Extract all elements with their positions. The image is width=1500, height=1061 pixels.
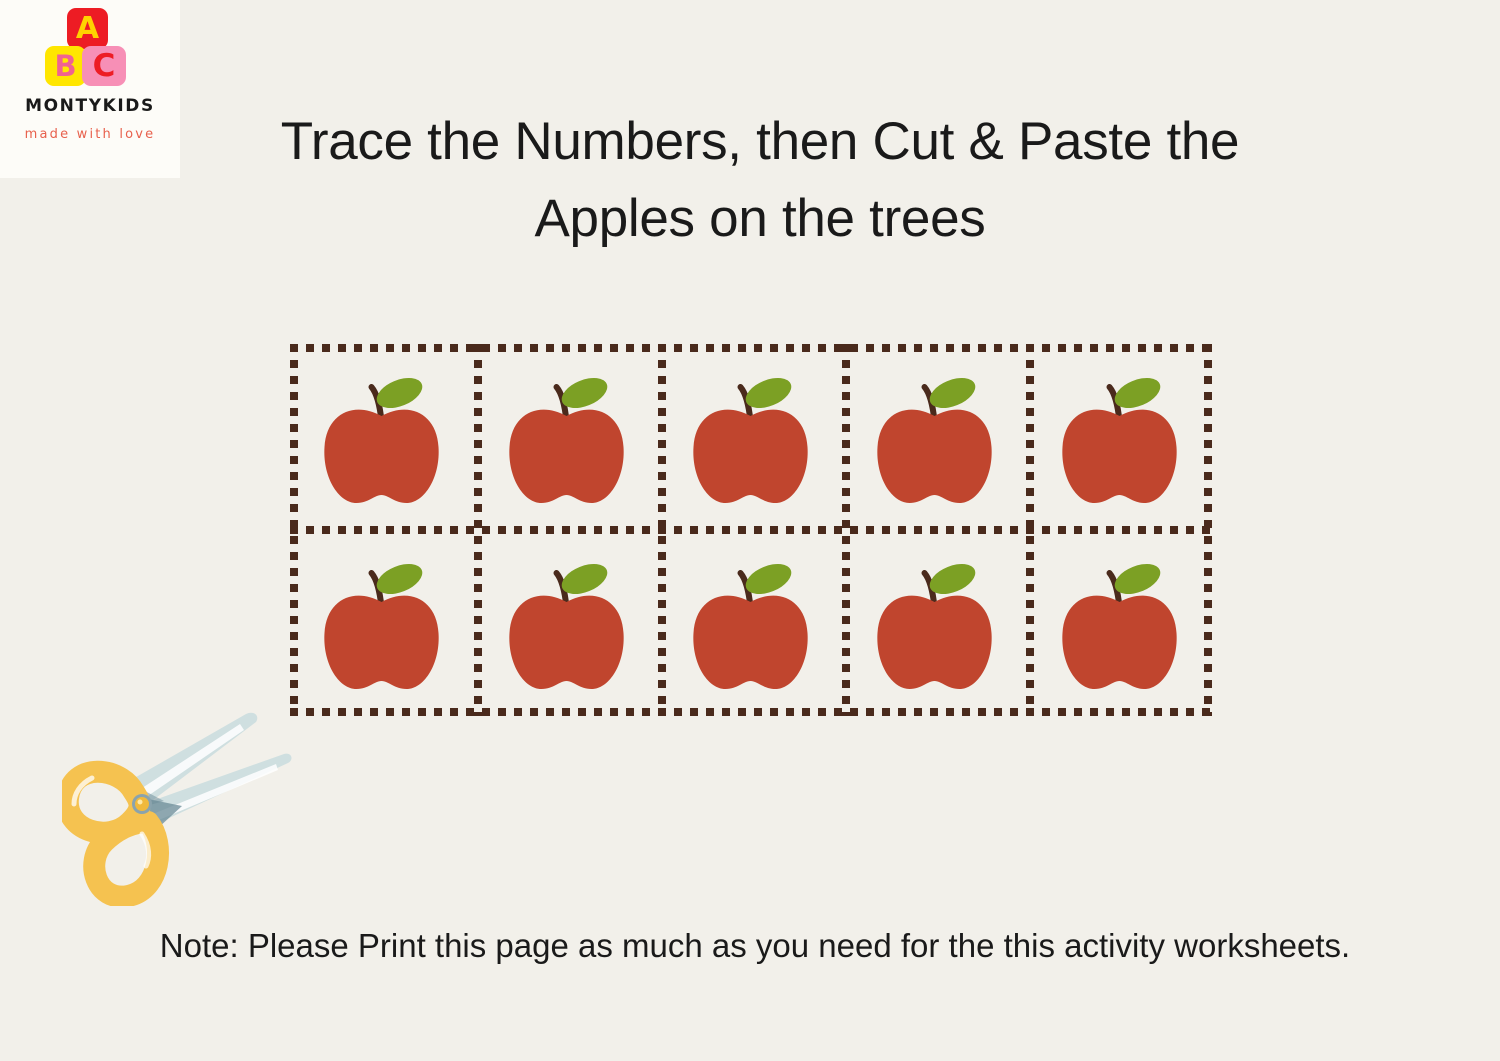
grid-dash-line-bottom bbox=[290, 708, 1212, 716]
apple-icon bbox=[499, 361, 634, 513]
apple-cut-cell[interactable] bbox=[474, 344, 658, 530]
apple-icon bbox=[683, 547, 818, 699]
apple-cut-cell[interactable] bbox=[1028, 344, 1212, 530]
apple-cutout-grid bbox=[290, 344, 1212, 716]
grid-dash-line-col-0 bbox=[290, 344, 298, 716]
block-b-icon: B bbox=[45, 46, 86, 86]
grid-dash-line-col-2 bbox=[658, 344, 666, 716]
apple-icon bbox=[315, 547, 450, 699]
grid-row bbox=[290, 344, 1212, 530]
page-title: Trace the Numbers, then Cut & Paste the … bbox=[215, 104, 1305, 258]
apple-cut-cell[interactable] bbox=[1028, 530, 1212, 716]
apple-cut-cell[interactable] bbox=[843, 344, 1027, 530]
brand-tagline: made with love bbox=[0, 127, 180, 142]
apple-cut-cell[interactable] bbox=[474, 530, 658, 716]
grid-dash-line-top bbox=[290, 344, 1212, 352]
grid-dash-line-col-1 bbox=[474, 344, 482, 716]
scissors-icon bbox=[62, 706, 312, 906]
print-note: Note: Please Print this page as much as … bbox=[105, 920, 1405, 973]
block-c-icon: C bbox=[82, 46, 126, 86]
apple-icon bbox=[1052, 361, 1187, 513]
grid-dash-line-middle bbox=[290, 526, 1212, 534]
apple-icon bbox=[683, 361, 818, 513]
apple-icon bbox=[868, 547, 1003, 699]
apple-icon bbox=[1052, 547, 1187, 699]
abc-blocks-icon: A B C bbox=[42, 8, 142, 86]
brand-logo-card: A B C MONTYKIDS made with love bbox=[0, 0, 180, 178]
grid-dash-line-col-4 bbox=[1026, 344, 1034, 716]
apple-cut-cell[interactable] bbox=[843, 530, 1027, 716]
block-a-icon: A bbox=[67, 8, 108, 49]
apple-cut-cell[interactable] bbox=[290, 530, 474, 716]
grid-row bbox=[290, 530, 1212, 716]
apple-cut-cell[interactable] bbox=[659, 344, 843, 530]
grid-dash-line-col-3 bbox=[842, 344, 850, 716]
apple-icon bbox=[315, 361, 450, 513]
brand-wordmark: MONTYKIDS bbox=[0, 96, 180, 116]
grid-dash-line-col-5 bbox=[1204, 344, 1212, 716]
apple-icon bbox=[499, 547, 634, 699]
apple-icon bbox=[868, 361, 1003, 513]
apple-cut-cell[interactable] bbox=[290, 344, 474, 530]
apple-cut-cell[interactable] bbox=[659, 530, 843, 716]
